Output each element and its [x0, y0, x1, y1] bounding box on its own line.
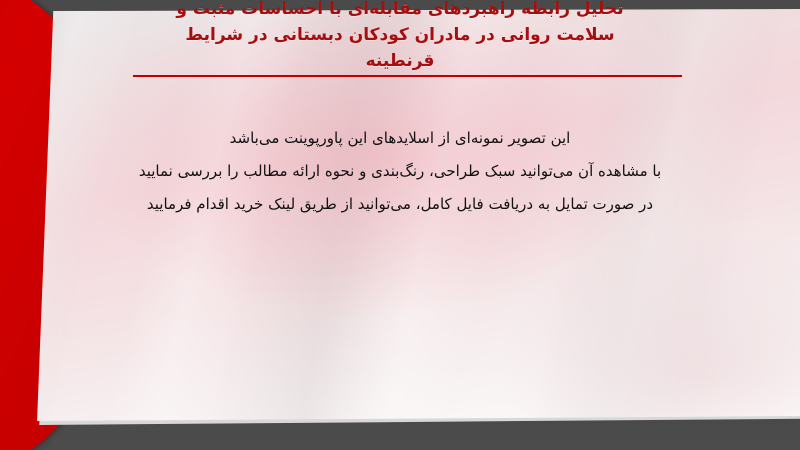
title-line-2: سلامت روانی در مادران کودکان دبستانی در …	[110, 22, 690, 48]
presentation-slide: تحلیل رابطه راهبردهای مقابله‌ای با احساس…	[0, 0, 800, 450]
slide-content: تحلیل رابطه راهبردهای مقابله‌ای با احساس…	[0, 0, 800, 450]
body-line-1: این تصویر نمونه‌ای از اسلایدهای این پاور…	[70, 122, 730, 155]
title-line-1: تحلیل رابطه راهبردهای مقابله‌ای با احساس…	[110, 0, 690, 22]
body-line-2: با مشاهده آن می‌توانید سبک طراحی، رنگ‌بن…	[70, 155, 730, 188]
title-underline-rule	[133, 75, 682, 77]
body-line-3: در صورت تمایل به دریافت فایل کامل، می‌تو…	[70, 188, 730, 221]
title-line-3: قرنطینه	[110, 48, 690, 74]
slide-title: تحلیل رابطه راهبردهای مقابله‌ای با احساس…	[0, 0, 800, 74]
slide-body: این تصویر نمونه‌ای از اسلایدهای این پاور…	[0, 122, 800, 221]
